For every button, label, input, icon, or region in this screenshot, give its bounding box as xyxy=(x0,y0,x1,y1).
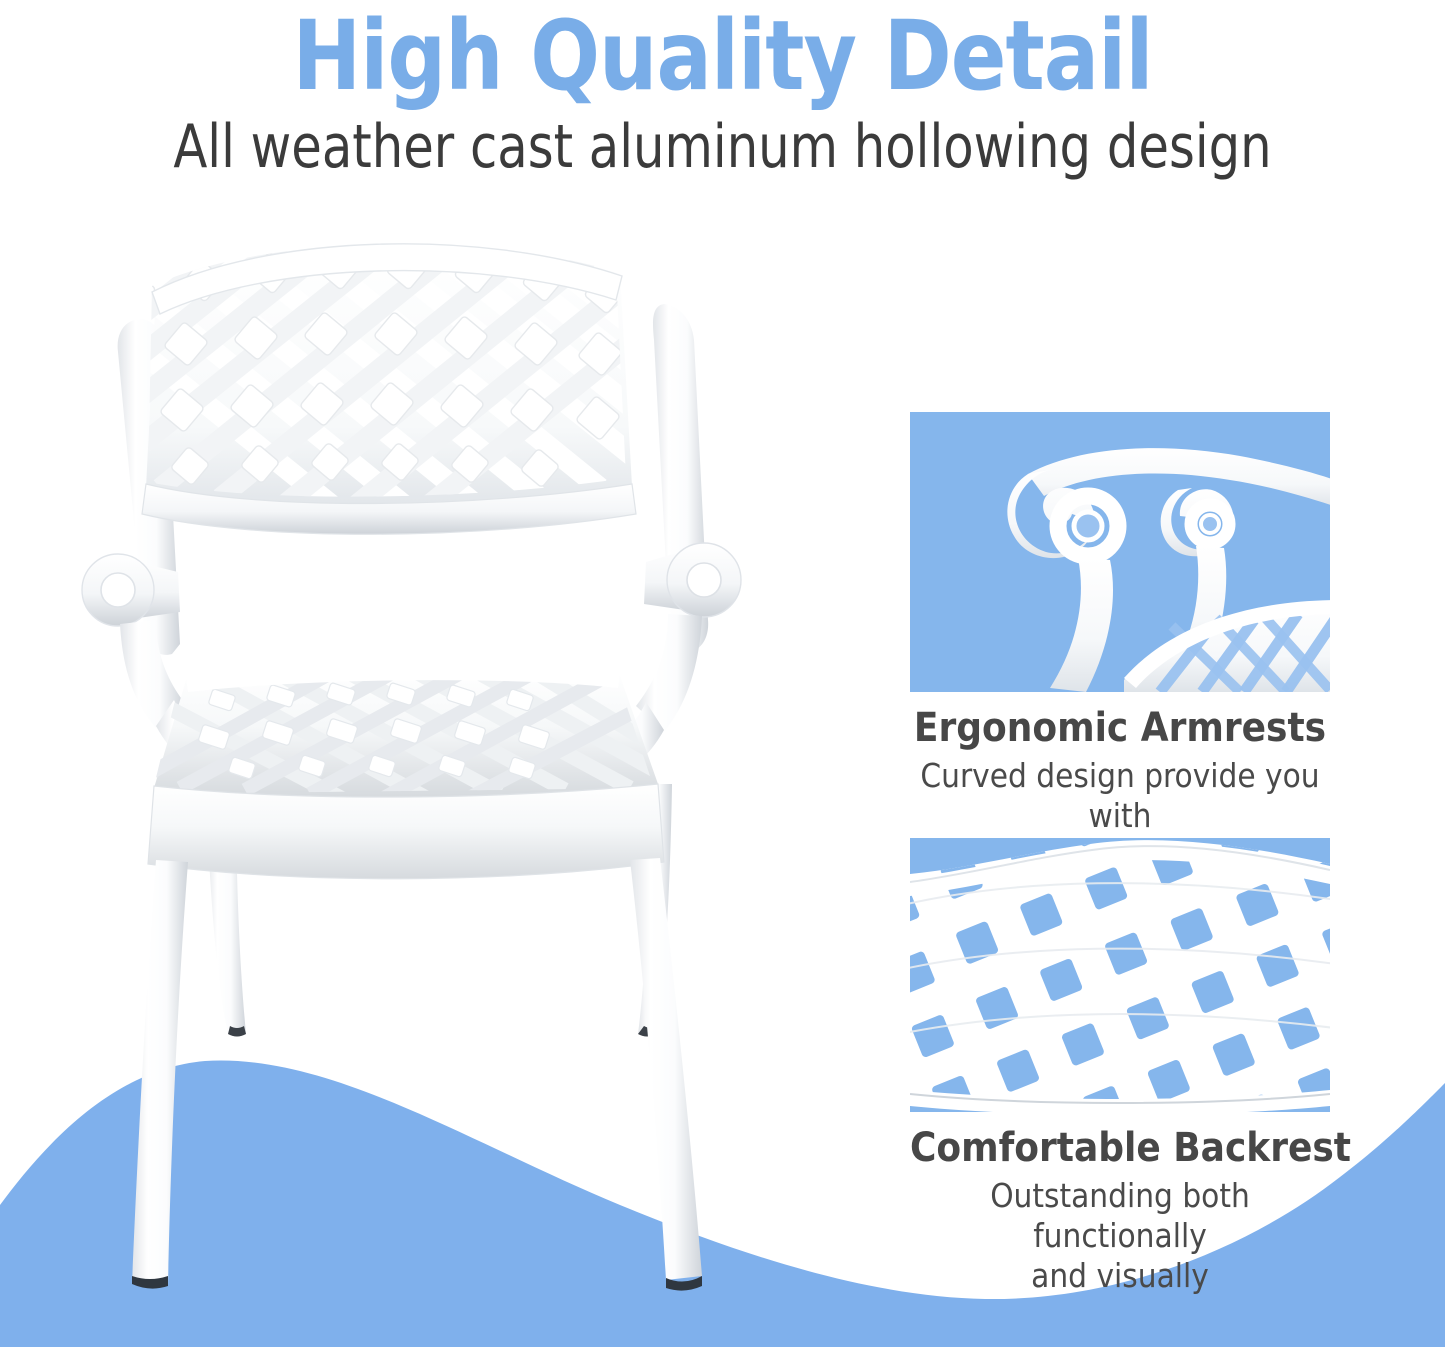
feature-title-armrest: Ergonomic Armrests xyxy=(910,704,1330,752)
chair-seat xyxy=(130,666,710,879)
feature-card-armrest: Ergonomic Armrests Curved design provide… xyxy=(910,412,1330,662)
feature-body-backrest: Outstanding both functionally and visual… xyxy=(910,1176,1330,1296)
armrest-scroll-left xyxy=(82,554,154,626)
chair-illustration xyxy=(60,228,860,1318)
feature-body-line1: Curved design provide you with xyxy=(910,756,1330,836)
infographic-canvas: High Quality Detail All weather cast alu… xyxy=(0,0,1445,1347)
page-subtitle: All weather cast aluminum hollowing desi… xyxy=(58,112,1387,182)
backrest-lattice-detail xyxy=(910,838,1330,1112)
feature-card-backrest: Comfortable Backrest Outstanding both fu… xyxy=(910,838,1330,1088)
armrest-closeup-thumbnail xyxy=(910,412,1330,692)
backrest-closeup-thumbnail xyxy=(910,838,1330,1112)
page-title: High Quality Detail xyxy=(36,2,1409,110)
armrest-scroll-right xyxy=(667,543,741,617)
product-hero-image xyxy=(60,228,860,1318)
feature-body-line1: Outstanding both functionally xyxy=(910,1176,1330,1256)
feature-title-backrest: Comfortable Backrest xyxy=(910,1124,1330,1172)
feature-body-line2: and visually xyxy=(910,1256,1330,1296)
armrest-scroll-detail xyxy=(910,412,1330,692)
